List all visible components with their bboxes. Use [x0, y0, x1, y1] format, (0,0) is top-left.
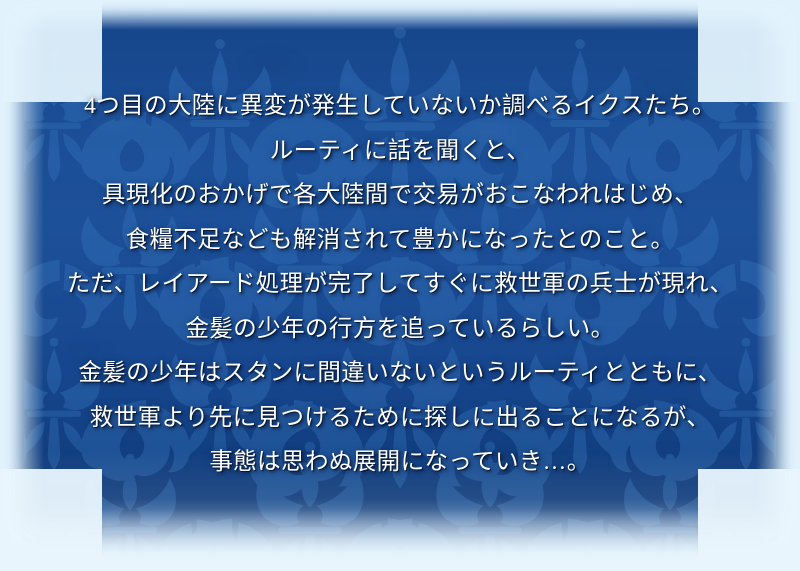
synopsis-line: 救世軍より先に見つけるために探しに出ることになるが、 [0, 396, 800, 441]
synopsis-line: 具現化のおかげで各大陸間で交易がおこなわれはじめ、 [0, 173, 800, 218]
synopsis-line: ただ、レイアード処理が完了してすぐに救世軍の兵士が現れ、 [0, 262, 800, 307]
synopsis-line: 金髪の少年の行方を追っているらしい。 [0, 307, 800, 352]
synopsis-line: 事態は思わぬ展開になっていき…。 [0, 440, 800, 485]
synopsis-line: 金髪の少年はスタンに間違いないというルーティとともに、 [0, 351, 800, 396]
synopsis-text-block: 4つ目の大陸に異変が発生していないか調べるイクスたち。 ルーティに話を聞くと、 … [0, 84, 800, 485]
synopsis-line: 4つ目の大陸に異変が発生していないか調べるイクスたち。 [0, 84, 800, 129]
synopsis-screen: 4つ目の大陸に異変が発生していないか調べるイクスたち。 ルーティに話を聞くと、 … [0, 0, 800, 571]
synopsis-line: ルーティに話を聞くと、 [0, 129, 800, 174]
synopsis-line: 食糧不足なども解消されて豊かになったとのこと。 [0, 218, 800, 263]
